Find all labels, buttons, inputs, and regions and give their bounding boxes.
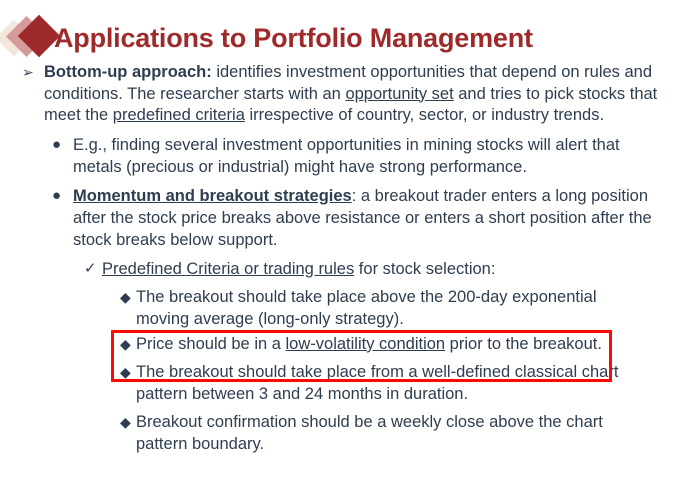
page-title: Applications to Portfolio Management <box>54 25 533 52</box>
diamond-bullet-icon: ◆ <box>120 286 136 308</box>
bullet-200-day-ema-text: The breakout should take place above the… <box>136 286 676 330</box>
bullet-predefined-criteria-text: Predefined Criteria or trading rules for… <box>102 258 676 280</box>
bullet-breakout-confirmation: ◆ Breakout confirmation should be a week… <box>0 411 676 455</box>
low-volatility-lead: Price should be in a <box>136 335 286 353</box>
link-predefined-criteria: predefined criteria <box>113 106 245 124</box>
bullet-momentum-breakout-text: Momentum and breakout strategies: a brea… <box>73 185 676 251</box>
link-opportunity-set: opportunity set <box>345 85 453 103</box>
disc-bullet-icon: ● <box>52 185 73 207</box>
check-bullet-icon: ✓ <box>84 258 102 280</box>
slide-body: ➢ Bottom-up approach: identifies investm… <box>0 62 676 455</box>
bullet-bottom-up-approach: ➢ Bottom-up approach: identifies investm… <box>0 62 676 127</box>
bullet-bottom-up-approach-text: Bottom-up approach: identifies investmen… <box>44 62 676 127</box>
bullet-mining-example-text: E.g., finding several investment opportu… <box>73 134 676 178</box>
low-volatility-tail: prior to the breakout. <box>445 335 602 353</box>
bullet-classical-chart-pattern-text: The breakout should take place from a we… <box>136 361 676 405</box>
link-low-volatility-condition: low-volatility condition <box>286 335 446 353</box>
predefined-criteria-tail: for stock selection: <box>354 260 495 278</box>
bullet-mining-example: ● E.g., finding several investment oppor… <box>0 134 676 178</box>
bullet-low-volatility-condition: ◆ Price should be in a low-volatility co… <box>0 333 676 355</box>
bullet-low-volatility-condition-text: Price should be in a low-volatility cond… <box>136 333 676 355</box>
bullet-breakout-confirmation-text: Breakout confirmation should be a weekly… <box>136 411 676 455</box>
diamond-bullet-icon: ◆ <box>120 333 136 355</box>
bullet-200-day-ema: ◆ The breakout should take place above t… <box>0 286 676 330</box>
diamond-bullet-icon: ◆ <box>120 411 136 433</box>
bullet-classical-chart-pattern: ◆ The breakout should take place from a … <box>0 361 676 405</box>
diamond-bullet-icon: ◆ <box>120 361 136 383</box>
link-predefined-criteria-or-trading-rules: Predefined Criteria or trading rules <box>102 260 354 278</box>
bottom-up-approach-tail: irrespective of country, sector, or indu… <box>245 106 604 124</box>
slide-title-row: Applications to Portfolio Management <box>0 14 533 62</box>
bullet-predefined-criteria: ✓ Predefined Criteria or trading rules f… <box>0 258 676 280</box>
disc-bullet-icon: ● <box>52 134 73 156</box>
bottom-up-approach-lead: Bottom-up approach: <box>44 63 212 81</box>
triple-diamond-logo-icon <box>0 15 54 61</box>
bullet-momentum-breakout: ● Momentum and breakout strategies: a br… <box>0 185 676 251</box>
momentum-breakout-lead: Momentum and breakout strategies <box>73 187 352 205</box>
arrow-bullet-icon: ➢ <box>22 62 44 84</box>
